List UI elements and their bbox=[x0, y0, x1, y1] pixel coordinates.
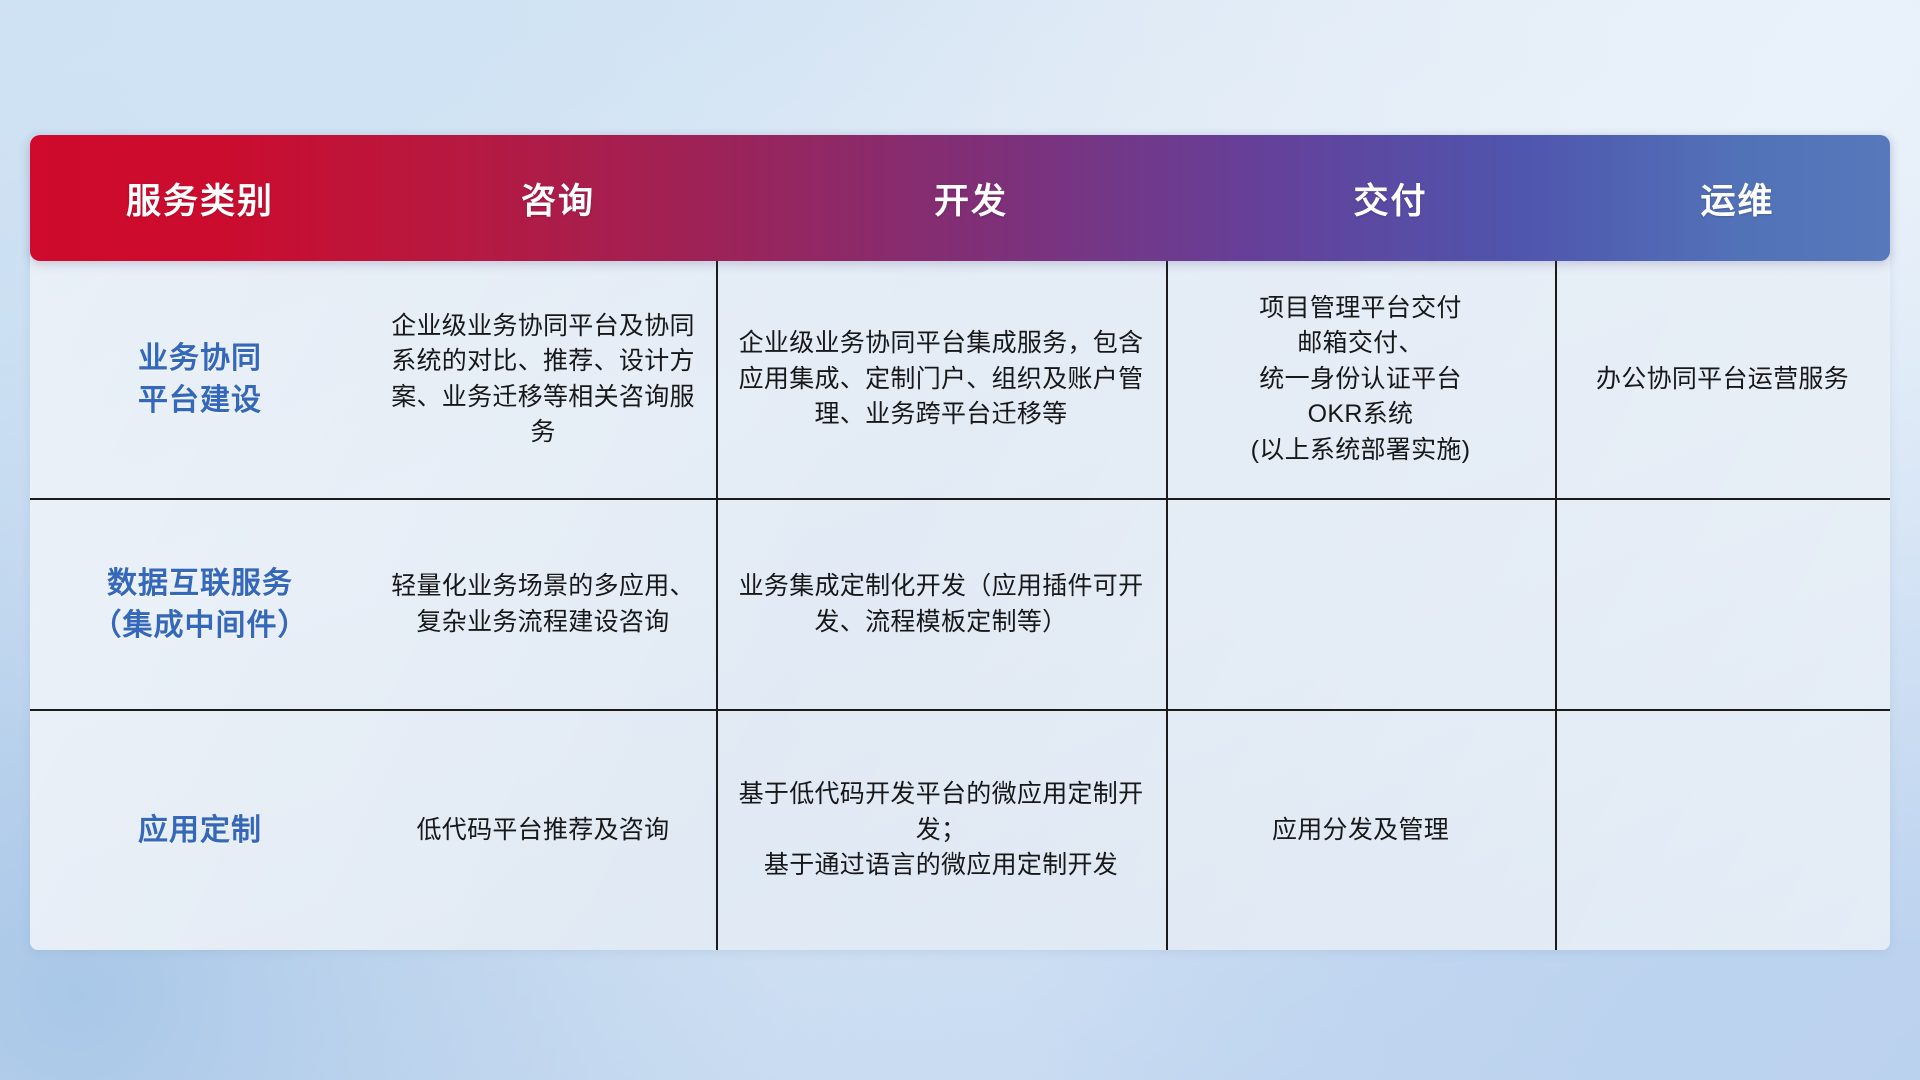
table-header-row: 服务类别 咨询 开发 交付 运维 bbox=[30, 135, 1890, 261]
table-row: 数据互联服务（集成中间件） 轻量化业务场景的多应用、复杂业务流程建设咨询 业务集… bbox=[30, 500, 1890, 709]
cell-operations: 办公协同平台运营服务 bbox=[1596, 362, 1849, 398]
row-category-label: 应用定制 bbox=[138, 810, 262, 851]
column-header-development: 开发 bbox=[746, 173, 1196, 224]
column-header-consulting: 咨询 bbox=[370, 173, 746, 224]
cell-delivery: 项目管理平台交付邮箱交付、统一身份认证平台OKR系统(以上系统部署实施) bbox=[1251, 291, 1471, 469]
column-header-service-category: 服务类别 bbox=[30, 173, 370, 224]
cell-consulting: 轻量化业务场景的多应用、复杂业务流程建设咨询 bbox=[384, 569, 702, 640]
cell-development: 企业级业务协同平台集成服务，包含应用集成、定制门户、组织及账户管理、业务跨平台迁… bbox=[730, 326, 1152, 433]
cell-delivery: 应用分发及管理 bbox=[1272, 813, 1449, 849]
cell-consulting: 低代码平台推荐及咨询 bbox=[416, 813, 669, 849]
row-category-label: 数据互联服务（集成中间件） bbox=[92, 563, 309, 646]
row-category-label: 业务协同平台建设 bbox=[138, 338, 262, 421]
cell-development: 业务集成定制化开发（应用插件可开发、流程模板定制等） bbox=[730, 569, 1152, 640]
column-divider-2 bbox=[1166, 261, 1168, 950]
table-row: 应用定制 低代码平台推荐及咨询 基于低代码开发平台的微应用定制开发；基于通过语言… bbox=[30, 711, 1890, 950]
row-divider-2 bbox=[30, 709, 1890, 711]
column-header-delivery: 交付 bbox=[1196, 173, 1585, 224]
cell-development: 基于低代码开发平台的微应用定制开发；基于通过语言的微应用定制开发 bbox=[730, 777, 1152, 884]
slide-canvas: 服务类别 咨询 开发 交付 运维 业务协同平台建设 企业级业务协同平台及协同系统… bbox=[0, 0, 1920, 1080]
cell-consulting: 企业级业务协同平台及协同系统的对比、推荐、设计方案、业务迁移等相关咨询服务 bbox=[384, 309, 702, 451]
service-matrix-table: 服务类别 咨询 开发 交付 运维 业务协同平台建设 企业级业务协同平台及协同系统… bbox=[30, 135, 1890, 950]
row-divider-1 bbox=[30, 498, 1890, 500]
column-divider-1 bbox=[716, 261, 718, 950]
column-divider-3 bbox=[1555, 261, 1557, 950]
column-header-operations: 运维 bbox=[1585, 173, 1890, 224]
table-row: 业务协同平台建设 企业级业务协同平台及协同系统的对比、推荐、设计方案、业务迁移等… bbox=[30, 261, 1890, 498]
